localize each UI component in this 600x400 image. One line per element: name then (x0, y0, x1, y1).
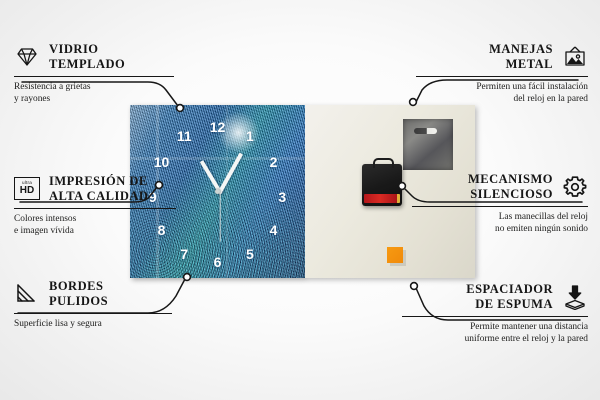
ultra-hd-badge-main-text: HD (20, 186, 34, 196)
quartz-movement-icon (362, 164, 402, 206)
callout-mecanismo-head: MECANISMO SILENCIOSO (412, 172, 588, 202)
clock-second-hand (219, 190, 220, 242)
polished-edge-icon (14, 281, 40, 307)
callout-vidrio-templado: VIDRIO TEMPLADO Resistencia a grietas y … (14, 42, 174, 105)
callout-vidrio-rule (14, 76, 174, 77)
ultra-hd-badge-icon: ultra HD (14, 176, 40, 202)
callout-manejas-desc: Permiten una fácil instalación del reloj… (416, 81, 588, 106)
clock-numeral-2: 2 (270, 155, 278, 169)
callout-bordes-rule (14, 313, 172, 314)
callout-espaciador-de-espuma: ESPACIADOR DE ESPUMA Permite mantener un… (402, 282, 588, 345)
gear-icon (562, 174, 588, 200)
callout-espaciador-title: ESPACIADOR DE ESPUMA (466, 282, 553, 312)
clock-numeral-4: 4 (270, 223, 278, 237)
callout-vidrio-head: VIDRIO TEMPLADO (14, 42, 174, 72)
foam-spacer-icon (387, 247, 403, 263)
diamond-icon (14, 44, 40, 70)
callout-manejas-rule (416, 76, 588, 77)
callout-impresion-title: IMPRESIÓN DE ALTA CALIDAD (49, 174, 148, 204)
clock-minute-hand (217, 152, 243, 194)
callout-impresion-alta-calidad: ultra HD IMPRESIÓN DE ALTA CALIDAD Color… (14, 174, 176, 237)
framed-picture-hanging-icon (562, 44, 588, 70)
callout-mecanismo-silencioso: MECANISMO SILENCIOSO Las manecillas del … (412, 172, 588, 235)
arrow-down-onto-layer-icon (562, 284, 588, 310)
clock-numeral-10: 10 (154, 155, 170, 169)
clock-numeral-3: 3 (278, 190, 286, 204)
callout-impresion-desc: Colores intensos e imagen vívida (14, 213, 176, 238)
clock-numeral-12: 12 (210, 120, 226, 134)
callout-espaciador-desc: Permite mantener una distancia uniforme … (402, 321, 588, 346)
callout-mecanismo-title: MECANISMO SILENCIOSO (468, 172, 553, 202)
clock-numeral-1: 1 (246, 129, 254, 143)
callout-vidrio-desc: Resistencia a grietas y rayones (14, 81, 174, 106)
callout-bordes-pulidos: BORDES PULIDOS Superficie lisa y segura (14, 279, 172, 330)
callout-vidrio-title: VIDRIO TEMPLADO (49, 42, 125, 72)
callout-mecanismo-rule (412, 206, 588, 207)
callout-bordes-head: BORDES PULIDOS (14, 279, 172, 309)
clock-numeral-11: 11 (177, 129, 192, 143)
clock-numeral-6: 6 (214, 255, 222, 269)
callout-bordes-desc: Superficie lisa y segura (14, 318, 172, 330)
clock-center-cap (215, 189, 220, 194)
callout-manejas-metal: MANEJAS METAL Permiten una fácil instala… (416, 42, 588, 105)
infographic-canvas: 12 1 2 3 4 5 6 7 8 9 10 11 (0, 0, 600, 400)
battery-icon (364, 194, 400, 203)
callout-bordes-title: BORDES PULIDOS (49, 279, 108, 309)
clock-numeral-7: 7 (180, 247, 188, 261)
callout-espaciador-rule (402, 316, 588, 317)
clock-numeral-5: 5 (246, 247, 254, 261)
callout-impresion-rule (14, 208, 176, 209)
callout-manejas-head: MANEJAS METAL (416, 42, 588, 72)
metal-hanger-plate-icon (403, 119, 453, 170)
callout-espaciador-head: ESPACIADOR DE ESPUMA (402, 282, 588, 312)
callout-mecanismo-desc: Las manecillas del reloj no emiten ningú… (412, 211, 588, 236)
callout-manejas-title: MANEJAS METAL (489, 42, 553, 72)
callout-impresion-head: ultra HD IMPRESIÓN DE ALTA CALIDAD (14, 174, 176, 204)
